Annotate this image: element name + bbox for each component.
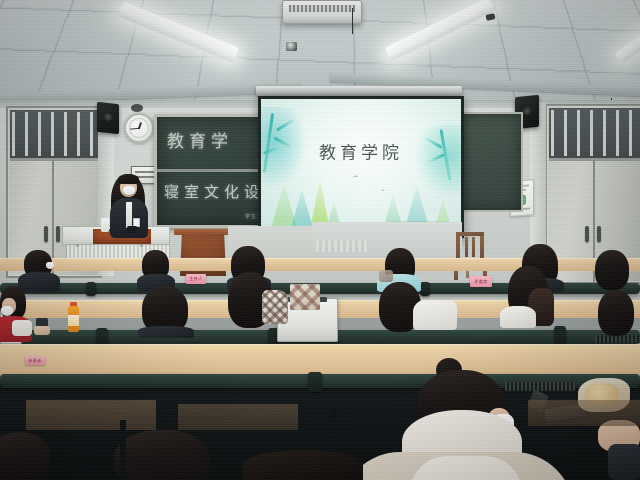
under-desk-wood-left (26, 400, 156, 430)
projection-screen: 教育学院 北京市中育教育研究院文化建设中心 (258, 96, 464, 238)
slide-deco-right-wash (409, 125, 461, 203)
presenter-face-mask (123, 186, 135, 195)
screen-housing (256, 86, 462, 96)
laptop-on-podium (127, 226, 137, 233)
drink-bottle (68, 306, 79, 332)
desk-row-1-bracket-3 (420, 282, 430, 296)
student-r2-6-hair (598, 290, 634, 336)
slide-deco-bird-2 (381, 189, 385, 191)
wall-clock (124, 113, 154, 143)
classroom-photo: 教育学 寝室文化设 学生工作 (0, 0, 640, 480)
slide-title: 教育学院 (261, 138, 461, 163)
radiator-bolt-1 (76, 244, 79, 247)
student-r2-1-mask (1, 306, 13, 316)
slide-surface: 教育学院 北京市中育教育研究院文化建设中心 (261, 99, 461, 235)
wooden-chair[interactable] (452, 232, 490, 280)
projector-vent (289, 5, 355, 12)
radiator-bolt-2 (140, 244, 143, 247)
student-r1-4-shoulder (379, 270, 393, 282)
under-desk-wood-right (528, 400, 640, 426)
name-card-2: 评委席 (470, 276, 492, 287)
student-r2-3-coat (262, 290, 288, 324)
tote-bag-row2 (290, 284, 320, 310)
door-handle-right-a[interactable] (585, 226, 589, 242)
student-r1-1-torso (18, 272, 60, 292)
student-front-5-head (243, 450, 363, 480)
projector-lens-icon (286, 42, 297, 51)
clock-center-pin (138, 127, 140, 129)
desk-row-3-bracket-1 (308, 372, 322, 392)
slide-deco-branch-1 (276, 117, 296, 131)
door-transom-right (549, 108, 640, 161)
speaker-cone-right-icon (523, 107, 531, 116)
ceiling-smoke-detector (131, 104, 143, 112)
presenter-fringe (118, 174, 139, 184)
student-front-2-hair (114, 430, 210, 480)
desk-row-3-grill (505, 382, 575, 391)
slide-deco-bird-1 (353, 175, 358, 177)
door-handle-left-a[interactable] (44, 226, 48, 242)
chair-back-top-rail (456, 232, 484, 236)
ceiling-projector (282, 0, 362, 24)
name-card-1: 主持人 (186, 274, 206, 284)
chair-back-slat-1 (465, 237, 468, 257)
window-bars-left (12, 112, 96, 156)
under-desk-wood-mid (178, 404, 298, 430)
name-card-3-text: 参赛者 (25, 358, 45, 364)
desk-leg-1 (120, 420, 126, 480)
door-handle-right-b[interactable] (597, 226, 601, 242)
student-r2-1-hand (34, 326, 50, 335)
presenter-shirt-collar (126, 202, 132, 228)
speaker-cone-left-icon (104, 113, 112, 122)
projector-cable (352, 8, 353, 34)
student-r2-2-torso (138, 326, 194, 338)
student-r1-1-mask (46, 262, 54, 269)
name-card-3: 参赛者 (25, 356, 45, 365)
name-card-1-text: 主持人 (186, 276, 206, 282)
desk-row-2-bracket-3 (554, 326, 566, 344)
student-r2-4-jacket (413, 300, 457, 330)
bottle-label (68, 315, 79, 326)
desk-row-1-bracket-1 (86, 282, 96, 296)
door-transom-left (10, 110, 98, 161)
blackboard-line-1: 教育学 (167, 127, 233, 152)
door-handle-left-b[interactable] (56, 226, 60, 242)
desk-row-2-grill (595, 335, 640, 343)
front-radiator-right (316, 240, 368, 252)
wall-speaker-left (97, 102, 119, 134)
student-front-4-sleeve (608, 444, 640, 480)
window-bars-right (551, 110, 639, 156)
student-r2-5-top (500, 306, 536, 328)
student-r2-1-white-sleeve (12, 320, 32, 336)
blackboard-line-2: 寝室文化设 (164, 181, 264, 202)
student-r1-6-hair (595, 250, 629, 290)
name-card-2-text: 评委席 (470, 279, 492, 285)
blackboard-right (455, 112, 523, 212)
chair-back-slat-2 (472, 237, 475, 257)
student-front-3-hair (0, 432, 50, 480)
water-cup-podium (101, 218, 109, 232)
